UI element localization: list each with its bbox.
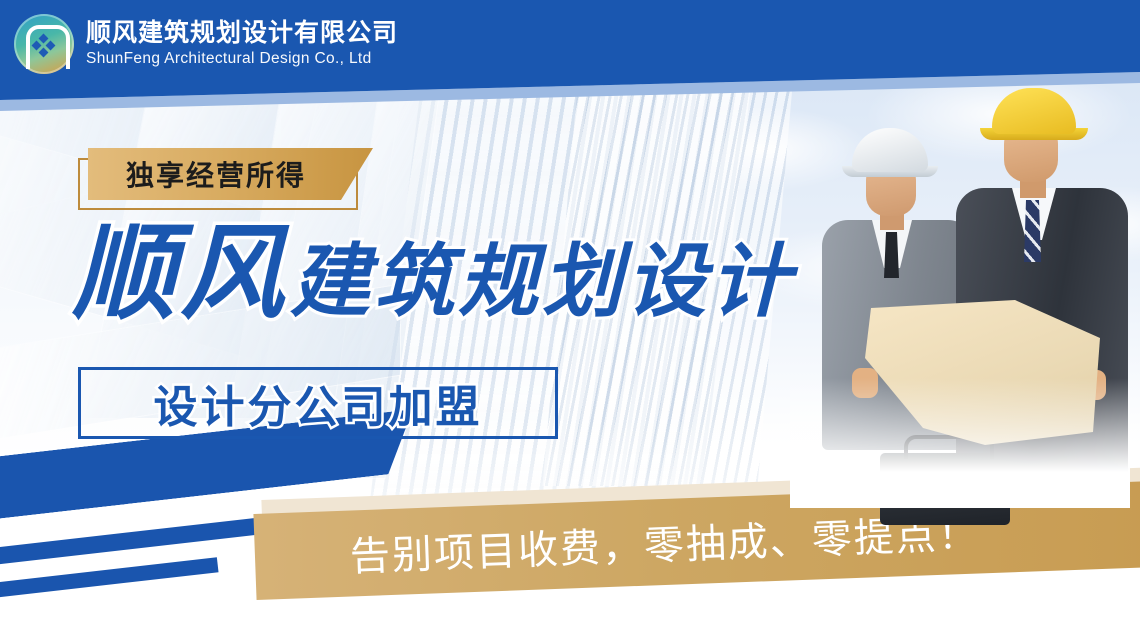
- subtitle-label: 设计分公司加盟: [154, 371, 483, 435]
- headline: 顺风 建筑规划设计: [72, 222, 794, 326]
- company-name-cn: 顺风建筑规划设计有限公司: [86, 19, 398, 47]
- headline-secondary: 建筑规划设计: [290, 242, 794, 326]
- people-photo-fade: [790, 378, 1130, 508]
- headline-primary: 顺风: [72, 222, 288, 326]
- people-photo: [790, 88, 1130, 508]
- brand-text: 顺风建筑规划设计有限公司 ShunFeng Architectural Desi…: [86, 19, 398, 69]
- brand-lockup[interactable]: 顺风建筑规划设计有限公司 ShunFeng Architectural Desi…: [14, 14, 398, 74]
- gold-badge-label: 独享经营所得: [126, 154, 306, 194]
- yellow-hard-hat-icon: [992, 88, 1076, 134]
- subtitle-box: 设计分公司加盟: [78, 367, 558, 439]
- company-logo-icon: [14, 14, 74, 74]
- promotional-banner: 告别项目收费，零抽成、零提点！ 顺风建筑规划设计有限公司 ShunFeng Ar…: [0, 0, 1140, 640]
- company-name-en: ShunFeng Architectural Design Co., Ltd: [86, 49, 398, 69]
- white-hard-hat-icon: [852, 128, 928, 172]
- gold-badge-fill: 独享经营所得: [88, 148, 373, 200]
